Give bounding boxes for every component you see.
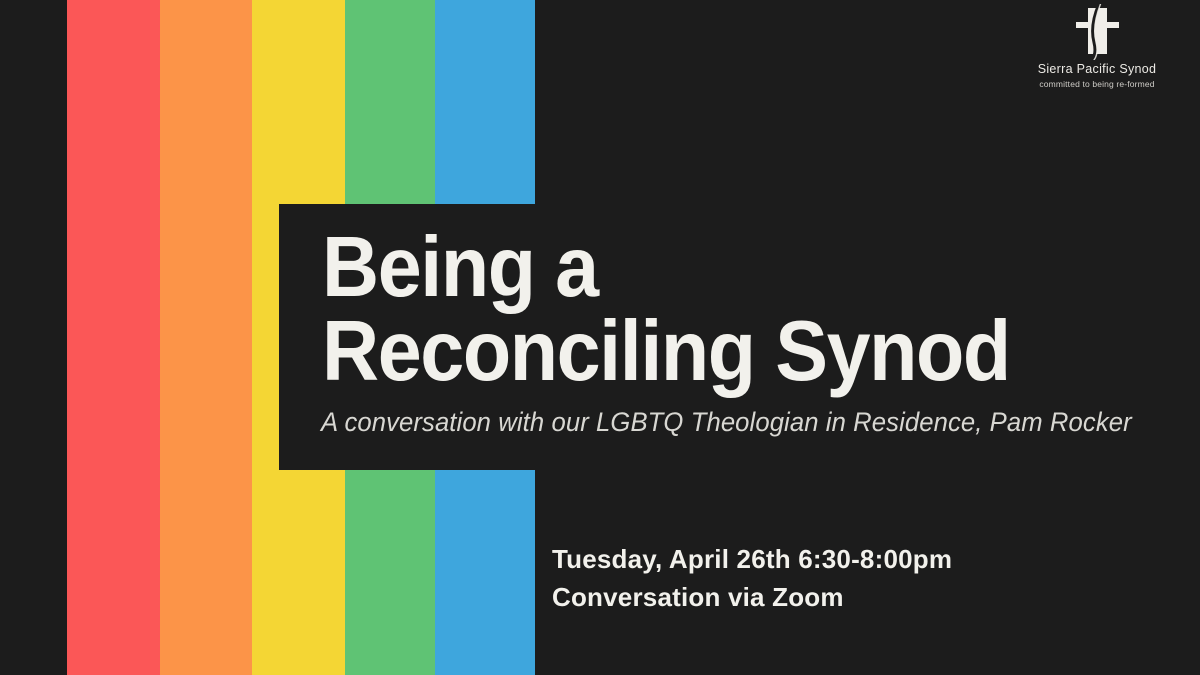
headline-line-1: Being a	[322, 226, 1029, 310]
event-datetime: Tuesday, April 26th 6:30-8:00pm	[552, 540, 952, 578]
logo-tagline: committed to being re-formed	[1012, 78, 1182, 90]
stripe-orange	[160, 0, 252, 675]
page-title: Being a Reconciling Synod	[322, 226, 1082, 394]
stripe-red	[67, 0, 160, 675]
organization-logo: Sierra Pacific Synod committed to being …	[1012, 4, 1182, 90]
event-details: Tuesday, April 26th 6:30-8:00pm Conversa…	[552, 540, 952, 616]
logo-organization-name: Sierra Pacific Synod	[1012, 62, 1182, 77]
page-subtitle: A conversation with our LGBTQ Theologian…	[321, 406, 1132, 438]
cross-icon	[1012, 4, 1182, 60]
slide-canvas: Being a Reconciling Synod A conversation…	[0, 0, 1200, 675]
headline-line-2: Reconciling Synod	[322, 310, 1029, 394]
event-platform: Conversation via Zoom	[552, 578, 952, 616]
